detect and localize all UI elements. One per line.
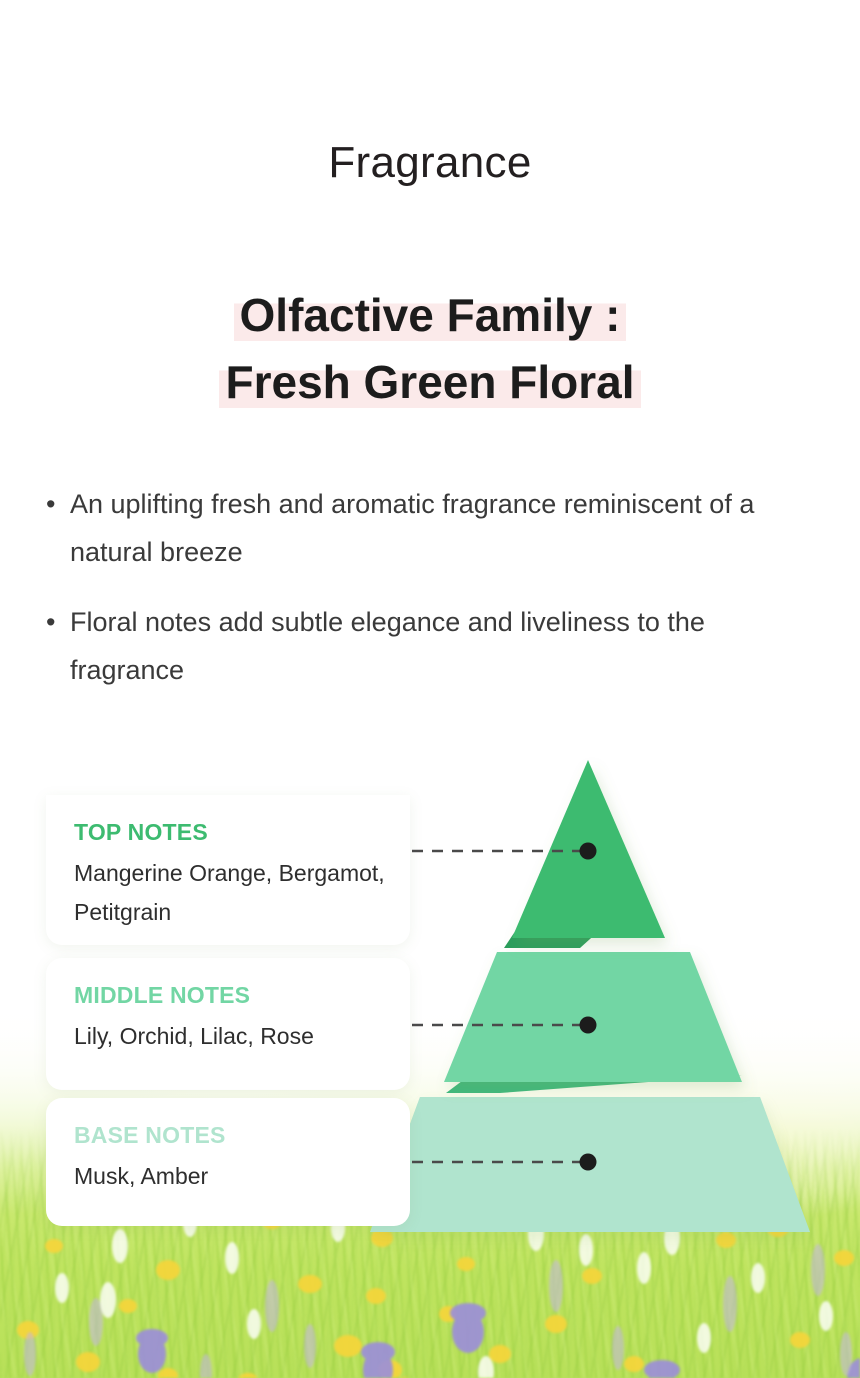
note-cards: TOP NOTES Mangerine Orange, Bergamot, Pe… bbox=[0, 0, 860, 1378]
note-card-base-title: BASE NOTES bbox=[74, 1122, 410, 1149]
note-card-top: TOP NOTES Mangerine Orange, Bergamot, Pe… bbox=[46, 795, 410, 945]
note-card-middle: MIDDLE NOTES Lily, Orchid, Lilac, Rose bbox=[46, 958, 410, 1090]
note-card-middle-title: MIDDLE NOTES bbox=[74, 982, 410, 1009]
note-card-base-body: Musk, Amber bbox=[74, 1157, 410, 1196]
note-card-top-body: Mangerine Orange, Bergamot, Petitgrain bbox=[74, 854, 410, 931]
note-card-base: BASE NOTES Musk, Amber bbox=[46, 1098, 410, 1226]
note-card-middle-body: Lily, Orchid, Lilac, Rose bbox=[74, 1017, 410, 1056]
note-card-top-title: TOP NOTES bbox=[74, 819, 410, 846]
fragrance-infographic: Fragrance Olfactive Family : Fresh Green… bbox=[0, 0, 860, 1378]
